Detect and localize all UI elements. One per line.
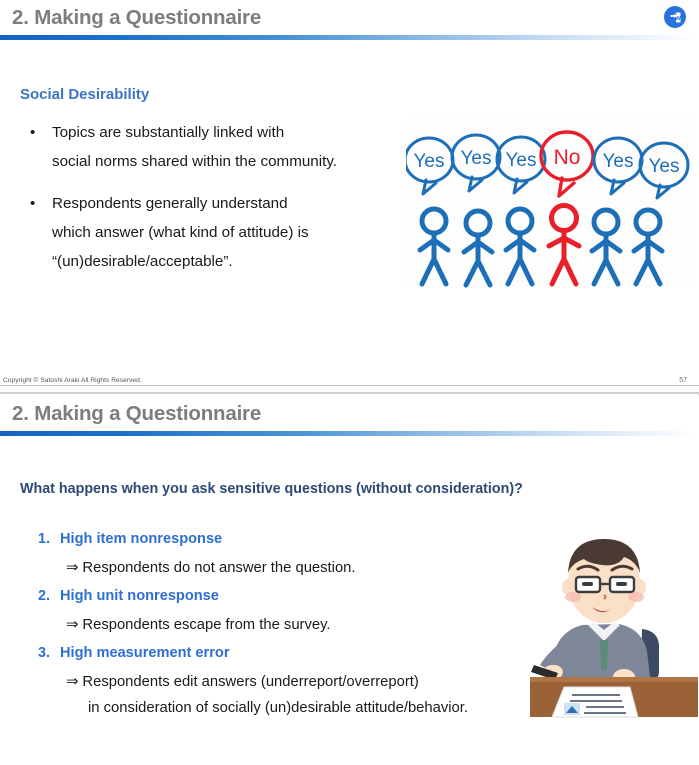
list-item-heading: 3. High measurement error xyxy=(38,645,508,661)
svg-text:Yes: Yes xyxy=(649,156,680,177)
list-item-number: 3. xyxy=(38,645,60,661)
double-arrow-icon: ⇒ xyxy=(66,674,78,690)
page-number: 57 xyxy=(679,377,687,384)
list-item: 2. High unit nonresponse ⇒Respondents es… xyxy=(38,588,508,638)
svg-text:No: No xyxy=(554,146,581,169)
list-item-title: High unit nonresponse xyxy=(60,588,219,604)
slide-1-title-rule xyxy=(0,35,699,40)
list-item: 1. High item nonresponse ⇒Respondents do… xyxy=(38,531,508,581)
slide-1-title: 2. Making a Questionnaire xyxy=(12,6,261,30)
list-item-heading: 2. High unit nonresponse xyxy=(38,588,508,604)
slide-2-title-rule xyxy=(0,431,699,436)
list-item: 3. High measurement error ⇒Respondents e… xyxy=(38,645,508,721)
double-arrow-icon: ⇒ xyxy=(66,560,78,576)
list-item-detail-text: Respondents edit answers (underreport/ov… xyxy=(82,674,418,690)
list-item-number: 2. xyxy=(38,588,60,604)
pdf-page: 2. Making a Questionnaire W Social Desir… xyxy=(0,0,699,765)
list-item-title: High measurement error xyxy=(60,645,230,661)
svg-text:W: W xyxy=(675,16,681,22)
double-arrow-icon: ⇒ xyxy=(66,617,78,633)
list-item-heading: 1. High item nonresponse xyxy=(38,531,508,547)
sub-heading-social-desirability: Social Desirability xyxy=(20,86,149,103)
troubled-businessman-illustration xyxy=(530,521,698,721)
slide-separator xyxy=(0,392,699,394)
bullet-line: Respondents generally understand xyxy=(52,189,399,218)
list-item-detail: ⇒Respondents do not answer the question. xyxy=(66,555,508,581)
svg-text:Yes: Yes xyxy=(414,151,445,172)
slide-1-footer-rule xyxy=(0,385,699,386)
list-item-detail: ⇒Respondents escape from the survey. xyxy=(66,612,508,638)
list-item-title: High item nonresponse xyxy=(60,531,222,547)
list-item-detail-text: Respondents do not answer the question. xyxy=(82,560,355,576)
list-item-detail: ⇒Respondents edit answers (underreport/o… xyxy=(66,669,508,721)
bullet-line: which answer (what kind of attitude) is xyxy=(52,218,399,247)
bullet-dot-icon: • xyxy=(30,189,35,218)
consequences-list: 1. High item nonresponse ⇒Respondents do… xyxy=(38,531,508,728)
svg-text:Yes: Yes xyxy=(603,151,634,172)
bullet-item: • Topics are substantially linked with s… xyxy=(24,118,399,176)
copyright-notice: Copyright © Satoshi Araki All Rights Res… xyxy=(3,377,142,384)
slide-2-title: 2. Making a Questionnaire xyxy=(12,402,261,426)
list-item-detail-text: Respondents escape from the survey. xyxy=(82,617,330,633)
slide-1: 2. Making a Questionnaire W Social Desir… xyxy=(0,0,699,392)
bullet-dot-icon: • xyxy=(30,118,35,147)
yes-no-crowd-illustration: Yes Yes Yes xyxy=(406,118,694,288)
bullet-line: “(un)desirable/acceptable”. xyxy=(52,247,399,276)
sensitive-questions-prompt: What happens when you ask sensitive ques… xyxy=(20,481,523,497)
bullet-item: • Respondents generally understand which… xyxy=(24,189,399,276)
bullet-line: Topics are substantially linked with xyxy=(52,118,399,147)
svg-text:Yes: Yes xyxy=(461,148,492,169)
list-item-number: 1. xyxy=(38,531,60,547)
bullet-line: social norms shared within the community… xyxy=(52,147,399,176)
svg-text:Yes: Yes xyxy=(506,150,537,171)
word-export-icon[interactable]: W xyxy=(664,6,686,28)
slide-2: 2. Making a Questionnaire What happens w… xyxy=(0,396,699,765)
list-item-detail-text-continued: in consideration of socially (un)desirab… xyxy=(88,695,508,721)
slide-1-bullet-list: • Topics are substantially linked with s… xyxy=(24,118,399,289)
